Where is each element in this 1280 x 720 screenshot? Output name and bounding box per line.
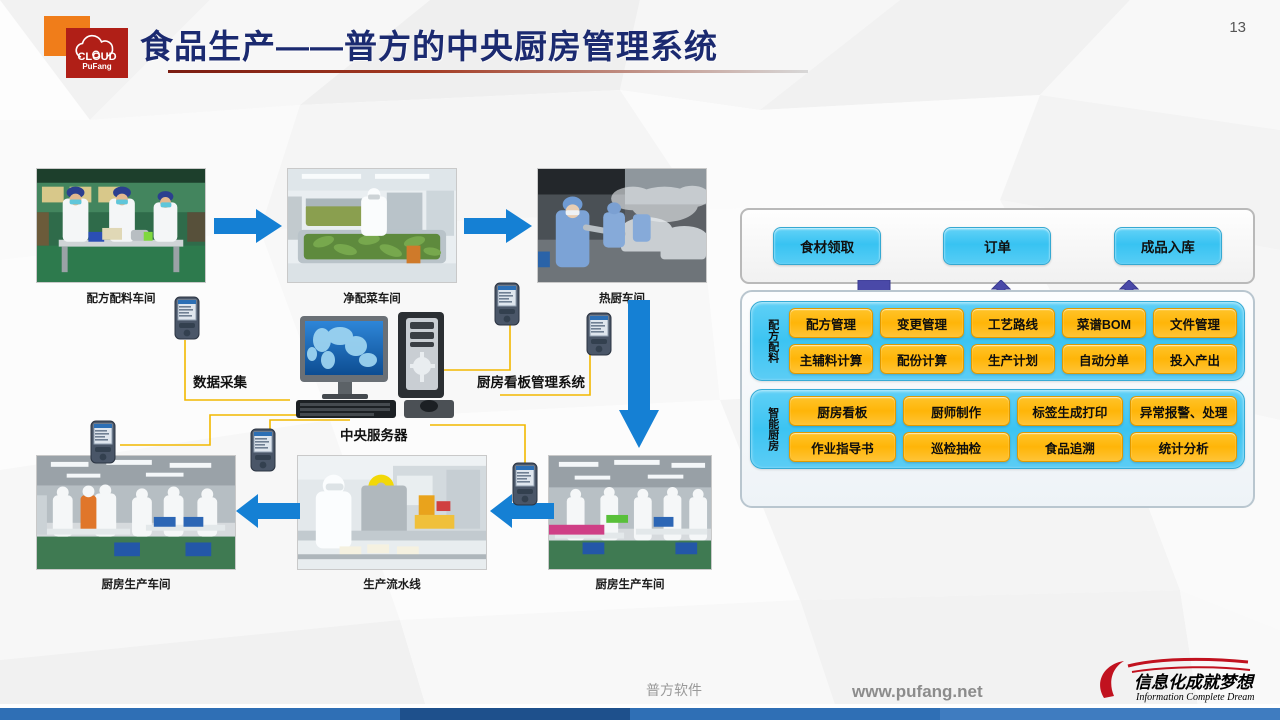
pda-device-5 <box>250 428 276 472</box>
module-auto-order-split[interactable]: 自动分单 <box>1062 344 1146 374</box>
module-menu-bom[interactable]: 菜谱BOM <box>1062 308 1146 338</box>
footer-url[interactable]: www.pufang.net <box>852 682 983 702</box>
photo-label-kitchen-production-right: 厨房生产车间 <box>548 576 712 592</box>
photo-batching-workshop <box>36 168 206 283</box>
module-work-instruction[interactable]: 作业指导书 <box>789 432 896 462</box>
group-recipe-ingredients: 配方配料 配方管理 变更管理 工艺路线 菜谱BOM 文件管理 主辅料计算 配份计… <box>750 301 1245 381</box>
footer-slogan-en: Information Complete Dream <box>1135 692 1255 703</box>
arrow-left-2 <box>236 492 300 530</box>
photo-label-kitchen-production-left: 厨房生产车间 <box>36 576 236 592</box>
system-module-panel: 配方配料 配方管理 变更管理 工艺路线 菜谱BOM 文件管理 主辅料计算 配份计… <box>740 290 1255 508</box>
footer-slogan-logo: 信息化成就梦想 Information Complete Dream <box>1098 656 1258 706</box>
logo-red-square: CLOUD PuFang <box>66 28 128 78</box>
module-statistical-analysis[interactable]: 统计分析 <box>1130 432 1237 462</box>
title-underline <box>168 70 808 73</box>
photo-vegetable-workshop <box>287 168 457 283</box>
module-change-management[interactable]: 变更管理 <box>880 308 964 338</box>
photo-label-vegetable-workshop: 净配菜车间 <box>287 290 457 306</box>
arrow-right-2 <box>464 207 534 245</box>
module-portion-calc[interactable]: 配份计算 <box>880 344 964 374</box>
photo-production-line <box>297 455 487 570</box>
svg-text:PuFang: PuFang <box>82 62 111 71</box>
pda-device-6 <box>512 462 538 506</box>
footer-band <box>0 704 1280 720</box>
footer-company: 普方软件 <box>646 680 702 700</box>
pda-device-2 <box>494 282 520 326</box>
group-grid-smart-kitchen: 厨房看板 厨师制作 标签生成打印 异常报警、处理 作业指导书 巡检抽检 食品追溯… <box>789 396 1237 462</box>
cloud-logo-icon: CLOUD PuFang <box>71 33 123 73</box>
photo-hot-kitchen <box>537 168 707 283</box>
group-label-recipe-ingredients: 配方配料 <box>755 308 789 374</box>
group-row: 配方管理 变更管理 工艺路线 菜谱BOM 文件管理 <box>789 308 1237 338</box>
module-file-management[interactable]: 文件管理 <box>1153 308 1237 338</box>
module-kitchen-kanban[interactable]: 厨房看板 <box>789 396 896 426</box>
module-input-output[interactable]: 投入产出 <box>1153 344 1237 374</box>
chip-order[interactable]: 订单 <box>943 227 1051 265</box>
page-title: 食品生产——普方的中央厨房管理系统 <box>140 20 718 68</box>
label-kanban-system: 厨房看板管理系统 <box>477 371 585 391</box>
pda-device-3 <box>586 312 612 356</box>
system-input-bar: 食材领取 订单 成品入库 <box>740 208 1255 284</box>
page-number: 13 <box>1229 19 1246 36</box>
group-row: 作业指导书 巡检抽检 食品追溯 统计分析 <box>789 432 1237 462</box>
module-label-print[interactable]: 标签生成打印 <box>1017 396 1124 426</box>
label-central-server: 中央服务器 <box>340 424 408 444</box>
group-label-smart-kitchen: 智能厨房 <box>755 396 789 462</box>
label-data-collection: 数据采集 <box>193 371 247 391</box>
module-process-route[interactable]: 工艺路线 <box>971 308 1055 338</box>
module-recipe-management[interactable]: 配方管理 <box>789 308 873 338</box>
arrow-down-right <box>617 300 661 450</box>
pda-device-4 <box>90 420 116 464</box>
chip-material-requisition[interactable]: 食材领取 <box>773 227 881 265</box>
group-smart-kitchen: 智能厨房 厨房看板 厨师制作 标签生成打印 异常报警、处理 作业指导书 巡检抽检… <box>750 389 1245 469</box>
group-row: 厨房看板 厨师制作 标签生成打印 异常报警、处理 <box>789 396 1237 426</box>
pda-device-1 <box>174 296 200 340</box>
chip-finished-goods-inbound[interactable]: 成品入库 <box>1114 227 1222 265</box>
module-food-traceability[interactable]: 食品追溯 <box>1017 432 1124 462</box>
central-server-icon <box>288 308 468 428</box>
photo-kitchen-production-right <box>548 455 712 570</box>
group-row: 主辅料计算 配份计算 生产计划 自动分单 投入产出 <box>789 344 1237 374</box>
module-exception-alarm[interactable]: 异常报警、处理 <box>1130 396 1237 426</box>
module-main-aux-material-calc[interactable]: 主辅料计算 <box>789 344 873 374</box>
module-chef-production[interactable]: 厨师制作 <box>903 396 1010 426</box>
brand-logo: CLOUD PuFang <box>44 16 130 78</box>
photo-kitchen-production-left <box>36 455 236 570</box>
photo-label-production-line: 生产流水线 <box>297 576 487 592</box>
arrow-right-1 <box>214 207 284 245</box>
module-production-plan[interactable]: 生产计划 <box>971 344 1055 374</box>
slide-root: CLOUD PuFang 食品生产——普方的中央厨房管理系统 13 <box>0 0 1280 720</box>
module-inspection-sampling[interactable]: 巡检抽检 <box>903 432 1010 462</box>
footer-slogan-cn: 信息化成就梦想 <box>1134 673 1256 692</box>
group-grid-recipe-ingredients: 配方管理 变更管理 工艺路线 菜谱BOM 文件管理 主辅料计算 配份计算 生产计… <box>789 308 1237 374</box>
